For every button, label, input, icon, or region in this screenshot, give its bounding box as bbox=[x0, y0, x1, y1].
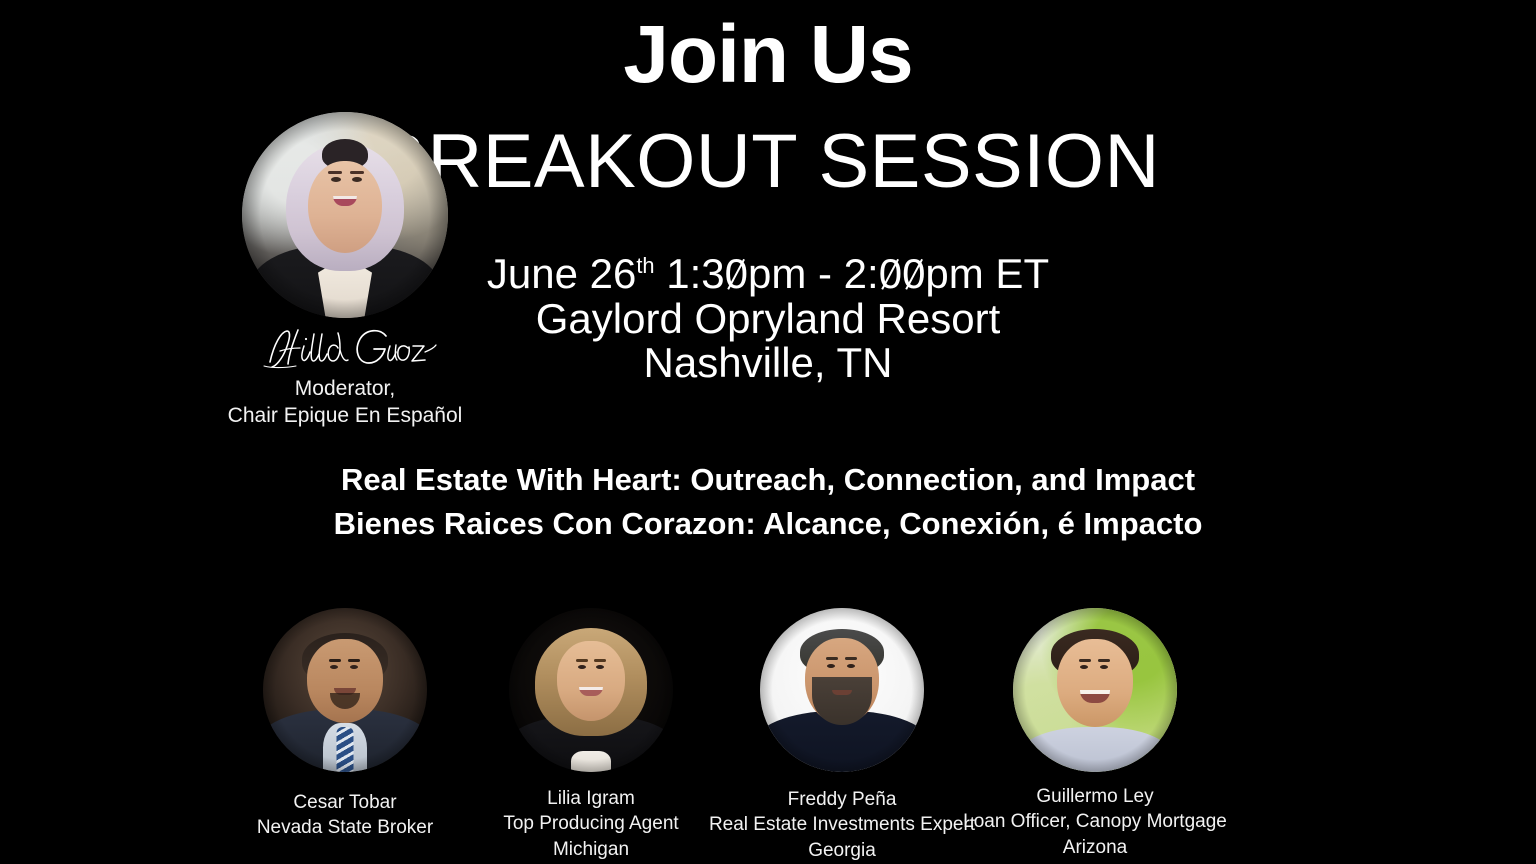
panelist-guillermo-ley: Guillermo Ley Loan Officer, Canopy Mortg… bbox=[945, 608, 1245, 860]
slashed-zero-icon: 0 bbox=[902, 252, 925, 297]
event-date: June 26 bbox=[487, 250, 636, 297]
moderator-role-line-1: Moderator, bbox=[190, 376, 500, 403]
event-time-start-prefix: 1:3 bbox=[666, 250, 724, 297]
portrait-vignette bbox=[263, 608, 427, 772]
moderator-signature bbox=[190, 322, 500, 374]
portrait-vignette bbox=[242, 112, 448, 318]
event-time-suffix: pm ET bbox=[925, 250, 1049, 297]
panelist-row: Cesar Tobar Nevada State Broker Lilia Ig… bbox=[0, 600, 1536, 864]
session-title-english: Real Estate With Heart: Outreach, Connec… bbox=[0, 458, 1536, 502]
moderator-role-line-2: Chair Epique En Español bbox=[190, 403, 500, 430]
panelist-name: Guillermo Ley bbox=[945, 784, 1245, 809]
portrait-vignette bbox=[760, 608, 924, 772]
poster-canvas: Join Us BREAKOUT SESSION June 26th 1:30p… bbox=[0, 0, 1536, 864]
eyebrow-heading: Join Us bbox=[0, 12, 1536, 98]
panelist-portrait bbox=[1013, 608, 1177, 772]
slashed-zero-icon: 0 bbox=[879, 252, 902, 297]
event-time-middle: pm - 2: bbox=[748, 250, 879, 297]
panelist-location: Arizona bbox=[945, 835, 1245, 860]
panelist-portrait bbox=[509, 608, 673, 772]
panelist-caption: Guillermo Ley Loan Officer, Canopy Mortg… bbox=[945, 784, 1245, 860]
session-title-block: Real Estate With Heart: Outreach, Connec… bbox=[0, 458, 1536, 546]
slashed-zero-icon: 0 bbox=[725, 252, 748, 297]
moderator-role: Moderator, Chair Epique En Español bbox=[190, 376, 500, 430]
moderator-portrait bbox=[242, 112, 448, 318]
session-title-spanish: Bienes Raices Con Corazon: Alcance, Cone… bbox=[0, 502, 1536, 546]
panelist-portrait bbox=[263, 608, 427, 772]
panelist-portrait bbox=[760, 608, 924, 772]
portrait-vignette bbox=[1013, 608, 1177, 772]
date-ordinal-suffix: th bbox=[636, 253, 654, 278]
moderator-block: Moderator, Chair Epique En Español bbox=[190, 112, 500, 430]
panelist-title: Loan Officer, Canopy Mortgage bbox=[945, 809, 1245, 834]
portrait-vignette bbox=[509, 608, 673, 772]
